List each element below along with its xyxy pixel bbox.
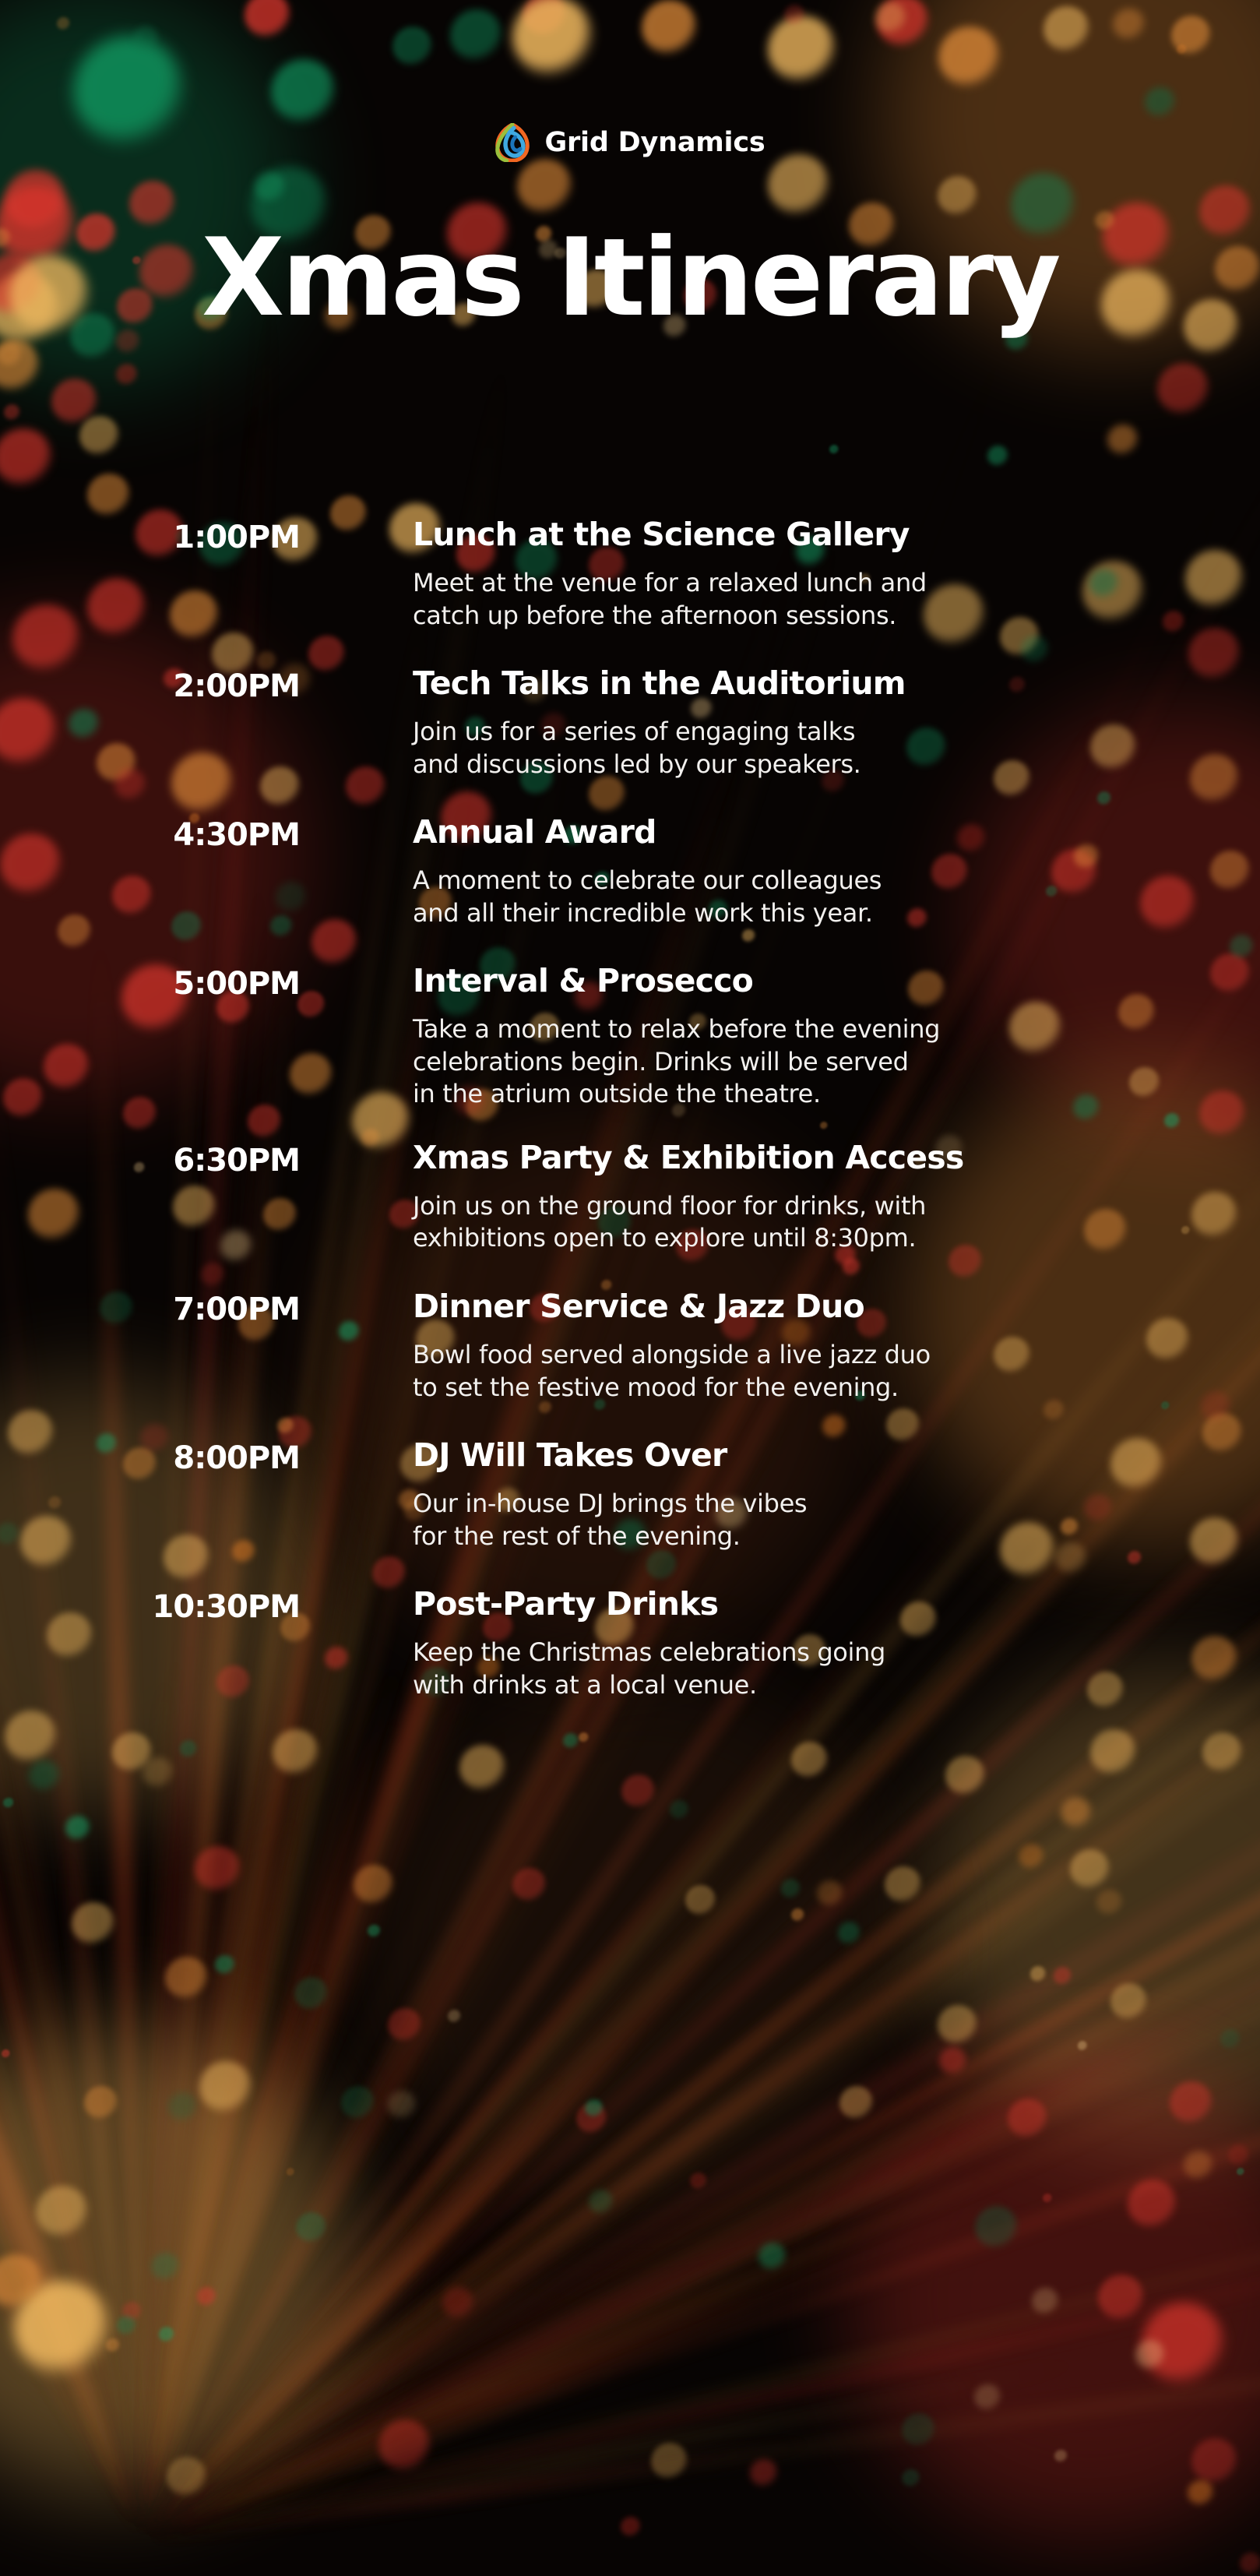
poster-canvas: Grid Dynamics Xmas Itinerary 1:00PMLunch… [0, 0, 1260, 2576]
itinerary-entry: 1:00PMLunch at the Science GalleryMeet a… [0, 517, 1260, 632]
entry-description-line: Keep the Christmas celebrations going [413, 1637, 1114, 1669]
entry-description-line: A moment to celebrate our colleagues [413, 865, 1114, 897]
entry-title: Dinner Service & Jazz Duo [413, 1289, 1114, 1325]
entry-body: Annual AwardA moment to celebrate our co… [413, 815, 1114, 929]
entry-description-line: Join us on the ground floor for drinks, … [413, 1190, 1114, 1223]
brand-lockup: Grid Dynamics [0, 123, 1260, 162]
entry-title: Post-Party Drinks [413, 1587, 1114, 1623]
itinerary-entry: 8:00PMDJ Will Takes OverOur in-house DJ … [0, 1438, 1260, 1552]
entry-time: 6:30PM [0, 1140, 300, 1176]
entry-time: 7:00PM [0, 1289, 300, 1325]
entry-body: Lunch at the Science GalleryMeet at the … [413, 517, 1114, 632]
entry-description: Take a moment to relax before the evenin… [413, 1013, 1114, 1111]
entry-description-line: with drinks at a local venue. [413, 1669, 1114, 1702]
entry-description: Join us on the ground floor for drinks, … [413, 1190, 1114, 1255]
entry-body: DJ Will Takes OverOur in-house DJ brings… [413, 1438, 1114, 1552]
itinerary-list: 1:00PMLunch at the Science GalleryMeet a… [0, 517, 1260, 1701]
entry-body: Xmas Party & Exhibition AccessJoin us on… [413, 1140, 1114, 1255]
entry-description: Our in-house DJ brings the vibesfor the … [413, 1488, 1114, 1552]
entry-description-line: and all their incredible work this year. [413, 897, 1114, 930]
entry-description: Meet at the venue for a relaxed lunch an… [413, 567, 1114, 632]
entry-description-line: Bowl food served alongside a live jazz d… [413, 1339, 1114, 1372]
entry-title: Tech Talks in the Auditorium [413, 666, 1114, 702]
entry-title: Annual Award [413, 815, 1114, 851]
entry-body: Tech Talks in the AuditoriumJoin us for … [413, 666, 1114, 781]
entry-description: Bowl food served alongside a live jazz d… [413, 1339, 1114, 1404]
entry-title: DJ Will Takes Over [413, 1438, 1114, 1474]
entry-time: 5:00PM [0, 964, 300, 999]
entry-time: 2:00PM [0, 666, 300, 702]
entry-description-line: exhibitions open to explore until 8:30pm… [413, 1222, 1114, 1255]
entry-description-line: and discussions led by our speakers. [413, 749, 1114, 781]
entry-description: A moment to celebrate our colleaguesand … [413, 865, 1114, 929]
entry-description-line: in the atrium outside the theatre. [413, 1078, 1114, 1111]
itinerary-entry: 7:00PMDinner Service & Jazz DuoBowl food… [0, 1289, 1260, 1404]
brand-name: Grid Dynamics [544, 129, 765, 157]
itinerary-entry: 6:30PMXmas Party & Exhibition AccessJoin… [0, 1140, 1260, 1255]
entry-description: Join us for a series of engaging talksan… [413, 716, 1114, 781]
entry-time: 1:00PM [0, 517, 300, 553]
itinerary-entry: 10:30PMPost-Party DrinksKeep the Christm… [0, 1587, 1260, 1701]
entry-description-line: to set the festive mood for the evening. [413, 1372, 1114, 1404]
entry-description-line: for the rest of the evening. [413, 1521, 1114, 1553]
entry-body: Interval & ProseccoTake a moment to rela… [413, 964, 1114, 1111]
entry-description: Keep the Christmas celebrations goingwit… [413, 1637, 1114, 1701]
entry-title: Lunch at the Science Gallery [413, 517, 1114, 553]
entry-description-line: Our in-house DJ brings the vibes [413, 1488, 1114, 1521]
entry-time: 10:30PM [0, 1587, 300, 1623]
poster-content: Grid Dynamics Xmas Itinerary 1:00PMLunch… [0, 0, 1260, 2576]
entry-description-line: catch up before the afternoon sessions. [413, 600, 1114, 633]
entry-title: Xmas Party & Exhibition Access [413, 1140, 1114, 1176]
entry-time: 4:30PM [0, 815, 300, 851]
entry-time: 8:00PM [0, 1438, 300, 1474]
entry-body: Dinner Service & Jazz DuoBowl food serve… [413, 1289, 1114, 1404]
itinerary-entry: 2:00PMTech Talks in the AuditoriumJoin u… [0, 666, 1260, 781]
grid-dynamics-logo-icon [494, 123, 530, 162]
itinerary-entry: 5:00PMInterval & ProseccoTake a moment t… [0, 964, 1260, 1111]
entry-description-line: Take a moment to relax before the evenin… [413, 1013, 1114, 1046]
entry-description-line: Join us for a series of engaging talks [413, 716, 1114, 749]
itinerary-entry: 4:30PMAnnual AwardA moment to celebrate … [0, 815, 1260, 929]
entry-body: Post-Party DrinksKeep the Christmas cele… [413, 1587, 1114, 1701]
entry-title: Interval & Prosecco [413, 964, 1114, 999]
entry-description-line: Meet at the venue for a relaxed lunch an… [413, 567, 1114, 600]
page-title: Xmas Itinerary [0, 222, 1260, 335]
entry-description-line: celebrations begin. Drinks will be serve… [413, 1046, 1114, 1079]
